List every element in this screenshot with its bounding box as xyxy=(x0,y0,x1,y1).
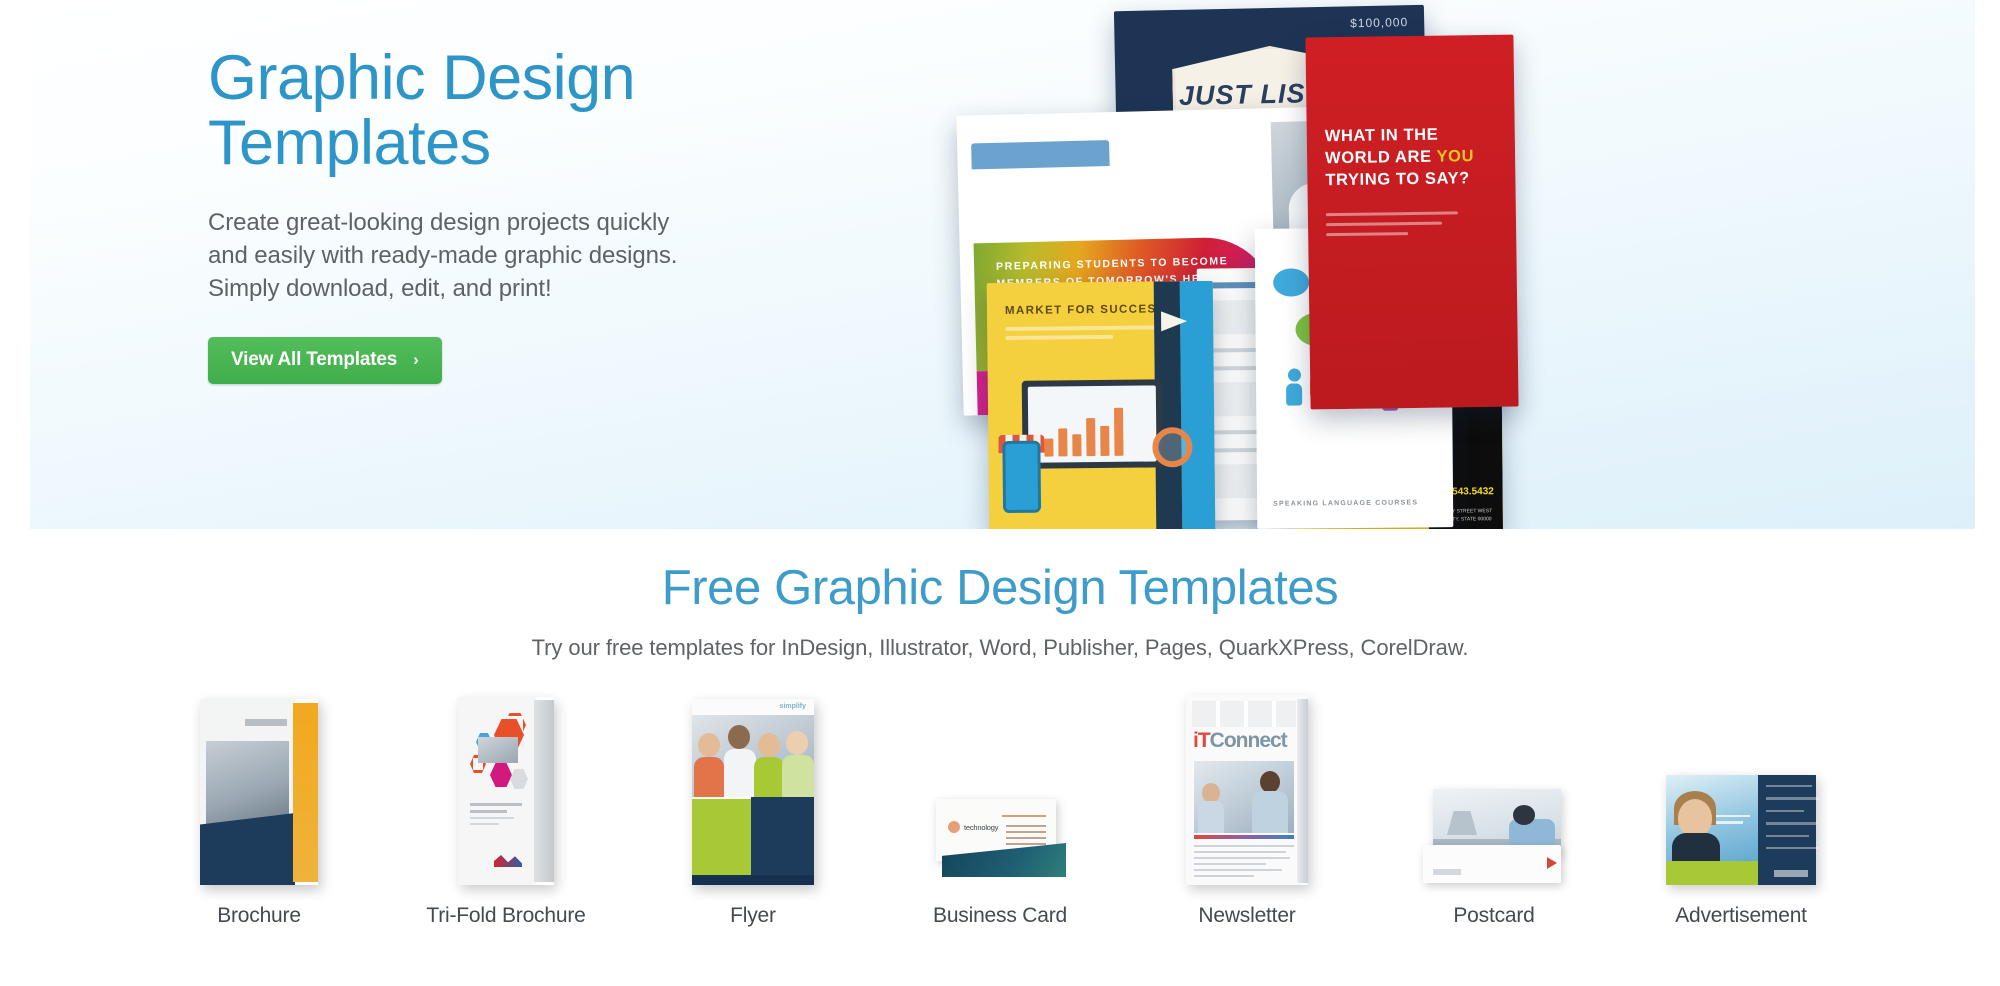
newsletter-title-a: iT xyxy=(1193,729,1210,752)
hexagon-icon xyxy=(490,763,512,787)
red-headline-line-2a: WORLD ARE xyxy=(1325,148,1437,168)
template-category-brochure[interactable]: Brochure xyxy=(136,685,383,928)
business-card-brand: technology xyxy=(964,823,998,832)
category-label: Brochure xyxy=(217,904,301,928)
advertisement-headline-lines xyxy=(1716,815,1750,828)
brochure-navy-panel xyxy=(200,813,295,885)
view-all-templates-label: View All Templates xyxy=(231,349,397,371)
section-tagline: Try our free templates for InDesign, Ill… xyxy=(0,635,2000,661)
trifold-text-lines xyxy=(470,803,522,829)
template-category-flyer[interactable]: simplify Flyer xyxy=(630,685,877,928)
person-torso xyxy=(1672,833,1720,863)
trifold-brochure-thumbnail[interactable] xyxy=(383,685,630,885)
hero-artwork-collage: $100,000 JUST LISTED OPEN HOUSE SATURDAY… xyxy=(960,0,1975,529)
category-label: Business Card xyxy=(933,904,1067,928)
newsletter-page-edge xyxy=(1297,699,1308,883)
postcard-thumbnail[interactable] xyxy=(1371,685,1618,885)
free-templates-section: Free Graphic Design Templates Try our fr… xyxy=(0,560,2000,661)
newsletter-accent-bar xyxy=(1194,835,1294,839)
hexagon-icon xyxy=(510,769,528,789)
red-headline-line-1: WHAT IN THE xyxy=(1325,126,1439,146)
category-label: Tri-Fold Brochure xyxy=(426,904,585,928)
chart-bar xyxy=(1086,418,1095,456)
template-category-trifold-brochure[interactable]: Tri-Fold Brochure xyxy=(383,685,630,928)
business-card-logo-icon xyxy=(948,821,960,833)
red-brochure-artwork: WHAT IN THE WORLD ARE YOU TRYING TO SAY? xyxy=(1305,35,1518,410)
advertisement-navy-panel xyxy=(1758,775,1816,885)
red-brochure-body xyxy=(1308,190,1459,237)
arrow-right-icon xyxy=(1547,857,1557,869)
template-category-business-card[interactable]: technology Business Card xyxy=(877,685,1124,928)
template-category-postcard[interactable]: Postcard xyxy=(1371,685,1618,928)
red-headline-line-3: TRYING TO SAY? xyxy=(1325,169,1470,189)
chart-bar xyxy=(1100,426,1109,456)
hero-subtitle: Create great-looking design projects qui… xyxy=(208,206,848,305)
hero-copy: Graphic Design Templates Create great-lo… xyxy=(208,46,848,384)
brochure-tab xyxy=(971,140,1110,169)
chart-bar xyxy=(1044,439,1053,457)
chart-bar xyxy=(1072,434,1081,456)
red-headline-you: YOU xyxy=(1436,147,1474,166)
flyer-green-panel xyxy=(692,799,753,877)
brochure-photo xyxy=(206,741,289,825)
brochure-spine xyxy=(293,703,318,882)
advertisement-logo xyxy=(1774,870,1808,877)
newsletter-photo xyxy=(1194,761,1294,833)
magnifier-icon xyxy=(1152,427,1192,467)
newsletter-title: iTConnect xyxy=(1193,729,1287,753)
view-all-templates-button[interactable]: View All Templates › xyxy=(208,337,442,384)
hero-title-line-1: Graphic Design xyxy=(208,43,635,113)
text-line xyxy=(1005,325,1155,331)
advertisement-photo-panel xyxy=(1666,775,1758,885)
person-face xyxy=(1678,799,1712,837)
advertisement-green-band xyxy=(1666,861,1758,885)
postcard-price: $100,000 xyxy=(1350,15,1408,30)
trifold-logo xyxy=(494,855,522,867)
laptop-icon xyxy=(1447,811,1477,835)
hexagon-graphic xyxy=(470,719,528,793)
trifold-fold-panel xyxy=(534,700,554,882)
smartphone-icon xyxy=(1002,441,1041,513)
category-label: Newsletter xyxy=(1198,904,1295,928)
category-label: Postcard xyxy=(1453,904,1534,928)
newsletter-body-text xyxy=(1194,845,1294,879)
flyer-brand-logo: simplify xyxy=(780,703,806,710)
postcard-back xyxy=(1423,845,1561,883)
hero-subtitle-line-1: Create great-looking design projects qui… xyxy=(208,209,669,236)
marketing-flyer-artwork: MARKET FOR SUCCESS xyxy=(987,281,1216,529)
section-heading: Free Graphic Design Templates xyxy=(0,560,2000,616)
flyer-people-photo xyxy=(692,715,814,797)
hero-title-line-2: Templates xyxy=(208,108,491,178)
postcard-logo xyxy=(1433,869,1461,875)
brochure-logo xyxy=(245,719,287,726)
flyer-navy-panel xyxy=(751,797,814,885)
advertisement-thumbnail[interactable] xyxy=(1618,685,1865,885)
monitor-icon xyxy=(1022,379,1163,468)
chevron-right-icon: › xyxy=(413,350,418,370)
template-category-newsletter[interactable]: iTConnect Newsletter xyxy=(1124,685,1371,928)
trifold-cover xyxy=(458,697,536,885)
speech-bubble-icon xyxy=(1273,268,1309,296)
template-category-advertisement[interactable]: Advertisement xyxy=(1618,685,1865,928)
flyer-bottom-strip xyxy=(692,875,814,885)
hero-subtitle-line-2: and easily with ready-made graphic desig… xyxy=(208,242,677,269)
hero-section: Graphic Design Templates Create great-lo… xyxy=(30,0,1975,529)
category-label: Flyer xyxy=(730,904,776,928)
red-brochure-headline: WHAT IN THE WORLD ARE YOU TRYING TO SAY? xyxy=(1305,35,1515,192)
newsletter-title-b: Connect xyxy=(1210,729,1287,752)
business-card-thumbnail[interactable]: technology xyxy=(877,685,1124,885)
language-courses-caption: SPEAKING LANGUAGE COURSES xyxy=(1273,498,1418,511)
chart-graphic xyxy=(1028,385,1157,462)
trifold-photo xyxy=(478,737,518,763)
brochure-thumbnail[interactable] xyxy=(136,685,383,885)
template-category-grid: Brochure xyxy=(0,685,2000,928)
category-label: Advertisement xyxy=(1675,904,1807,928)
page-title: Graphic Design Templates xyxy=(208,46,848,176)
paper-plane-icon xyxy=(1161,311,1187,331)
hero-subtitle-line-3: Simply download, edit, and print! xyxy=(208,275,552,302)
text-line xyxy=(1005,335,1113,340)
newsletter-header-boxes xyxy=(1192,701,1296,727)
newsletter-thumbnail[interactable]: iTConnect xyxy=(1124,685,1371,885)
flyer-thumbnail[interactable]: simplify xyxy=(630,685,877,885)
chart-bar xyxy=(1114,408,1124,456)
person-head xyxy=(1513,805,1535,825)
brochure-cover xyxy=(200,699,295,885)
chart-bar xyxy=(1058,428,1067,456)
